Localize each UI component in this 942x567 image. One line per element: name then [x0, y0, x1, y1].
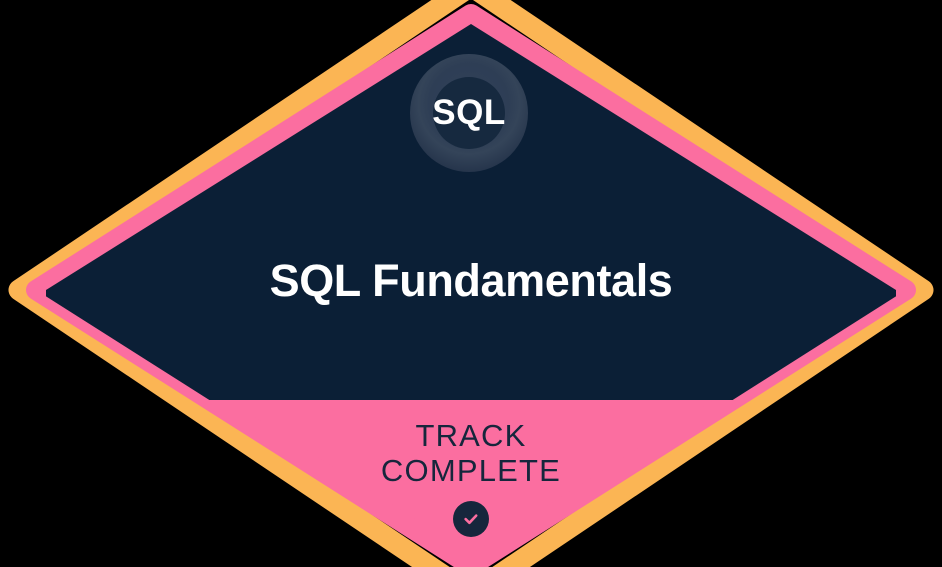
navy-inner-fill — [46, 24, 896, 400]
badge-title: SQL Fundamentals — [0, 255, 942, 307]
badge-card: SQL SQL Fundamentals TRACK COMPLETE — [0, 0, 942, 567]
